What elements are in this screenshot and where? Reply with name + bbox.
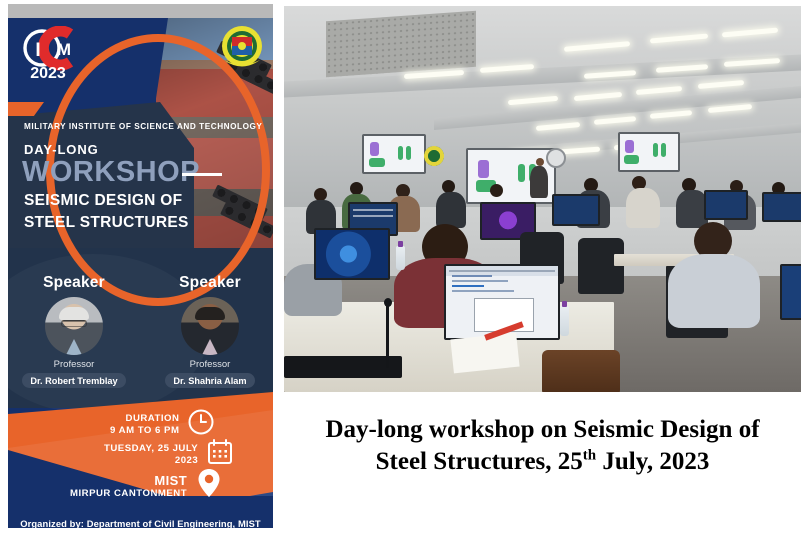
monitor-windows-wallpaper (314, 228, 390, 280)
attendee-body (626, 188, 660, 228)
desk-microphone (386, 304, 389, 368)
projector-screen-left (362, 134, 426, 174)
poster-subtitle-line-1: SEISMIC DESIGN OF (24, 192, 182, 210)
hair-shape (59, 307, 89, 320)
speaker-heading: Speaker (14, 274, 134, 292)
attendee-head (490, 184, 503, 197)
speaker-role: Professor (14, 359, 134, 370)
venue-sub: MIRPUR CANTONMENT (70, 488, 187, 499)
keyboard (284, 356, 402, 378)
glasses-shape (61, 320, 87, 327)
leather-bag (542, 350, 620, 392)
duration-row: DURATION 9 AM TO 6 PM (110, 408, 215, 441)
hair-shape (195, 307, 225, 320)
duration-label: DURATION (110, 413, 179, 425)
duration-value: 9 AM TO 6 PM (110, 425, 179, 437)
venue-name: MIST (70, 473, 187, 488)
caption-line-2-prefix: Steel Structures, 25 (376, 448, 583, 475)
caption-line-2: Steel Structures, 25th July, 2023 (284, 446, 801, 478)
calendar-icon (206, 438, 234, 471)
date-line-1: TUESDAY, 25 JULY (104, 443, 198, 455)
acoustic-panel (326, 11, 476, 77)
date-line-2: 2023 (104, 455, 198, 467)
attendee-monitor (552, 194, 600, 226)
poster-artwork: I M 2023 MILITARY INSTITUTE OF SCIENCE A (8, 18, 273, 528)
wall-crest-icon (424, 146, 444, 166)
attendee-monitor (762, 192, 801, 222)
venue-row: MIST MIRPUR CANTONMENT (70, 468, 223, 503)
speaker-role: Professor (150, 359, 270, 370)
monitor-right-edge (780, 264, 801, 320)
svg-text:I: I (35, 40, 40, 61)
speaker-name-pill: Dr. Robert Tremblay (22, 373, 125, 388)
water-bottle (396, 246, 405, 270)
mist-crest-icon (216, 24, 268, 78)
speaker-block-2: Speaker Professor Dr. Shahria Alam (150, 274, 270, 389)
office-chair (578, 238, 624, 294)
presenter-head (536, 158, 544, 166)
speaker-heading: Speaker (150, 274, 270, 292)
poster-kicker: DAY-LONG (24, 142, 99, 157)
figure-caption: Day-long workshop on Seismic Design of S… (284, 414, 801, 478)
speaker-photo-shahria-alam (181, 297, 239, 355)
svg-text:M: M (57, 40, 71, 59)
caption-line-1: Day-long workshop on Seismic Design of (284, 414, 801, 446)
svg-text:2023: 2023 (30, 65, 66, 82)
shirt-shape (66, 339, 82, 355)
foreground-attendee-body (668, 254, 760, 328)
workshop-photo (284, 6, 801, 392)
projector-screen-right (618, 132, 680, 172)
presenter-body (530, 166, 548, 198)
organized-by-text: Organized by: Department of Civil Engine… (8, 518, 273, 528)
date-row: TUESDAY, 25 JULY 2023 (104, 438, 234, 471)
wall-clock-icon (546, 148, 566, 168)
speaker-photo-robert-tremblay (45, 297, 103, 355)
caption-line-2-suffix: July, 2023 (596, 448, 709, 475)
location-pin-icon (195, 468, 223, 503)
shirt-shape (202, 339, 218, 355)
speaker-name-pill: Dr. Shahria Alam (165, 373, 254, 388)
document-page: I M 2023 MILITARY INSTITUTE OF SCIENCE A (0, 0, 805, 533)
caption-ordinal-suffix: th (583, 448, 596, 464)
poster-headline: WORKSHOP (22, 158, 200, 187)
institute-name: MILITARY INSTITUTE OF SCIENCE AND TECHNO… (24, 122, 262, 131)
attendee-body (436, 192, 466, 228)
attendee-monitor (704, 190, 748, 220)
water-bottle (560, 306, 569, 336)
workshop-poster: I M 2023 MILITARY INSTITUTE OF SCIENCE A (8, 4, 273, 528)
headline-rule (182, 173, 222, 176)
icm-logo: I M 2023 (18, 26, 90, 88)
clock-icon (187, 408, 215, 441)
speaker-block-1: Speaker Professor Dr. Robert Tremblay (14, 274, 134, 389)
poster-subtitle-line-2: STEEL STRUCTURES (24, 214, 189, 232)
poster-top-strip (8, 4, 273, 18)
